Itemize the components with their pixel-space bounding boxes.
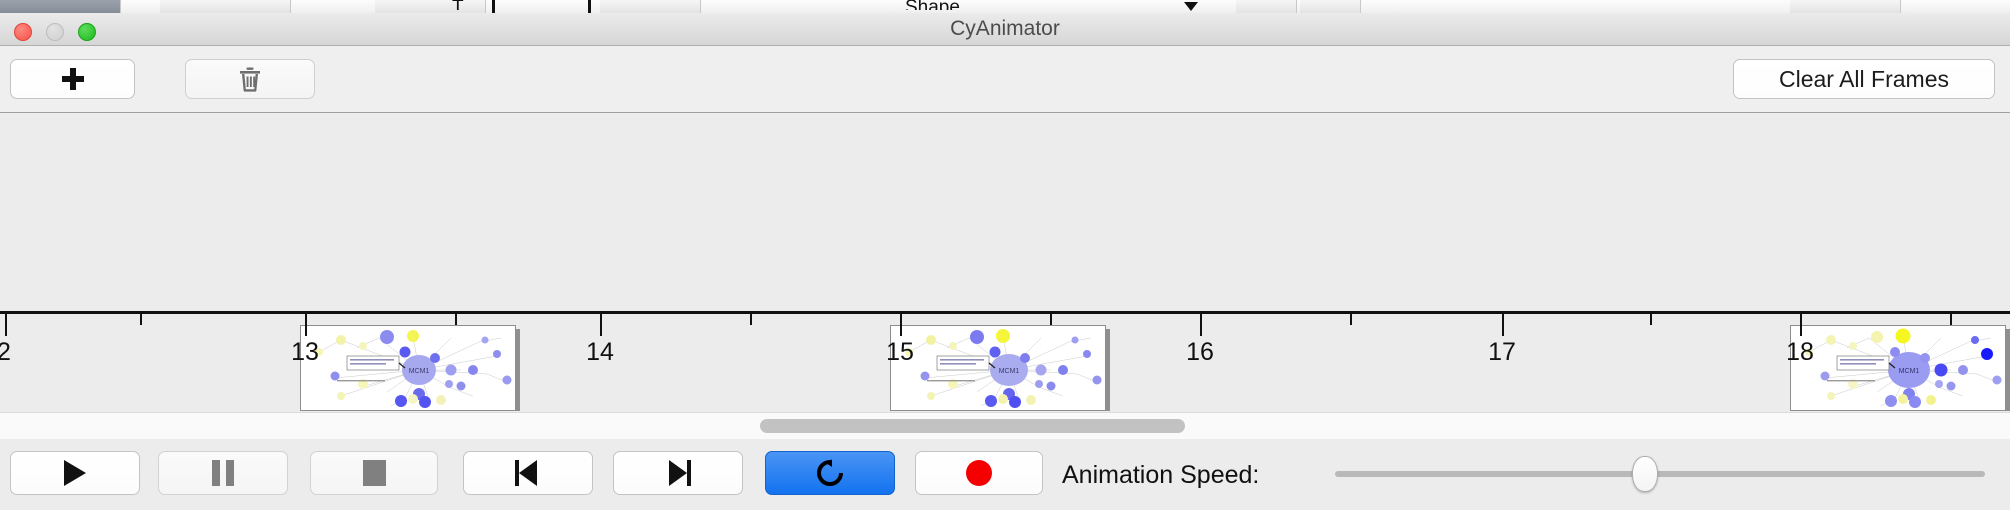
axis-tick-minor: [140, 314, 142, 325]
toolbar: Clear All Frames: [0, 46, 2010, 113]
bg-tab: [1300, 0, 1361, 13]
cyanimator-window: T Shape CyAnimator Clear All Fr: [0, 0, 2010, 510]
axis-tick-major: [1502, 314, 1504, 336]
trash-icon: [235, 63, 265, 95]
axis-tick-label: 15: [886, 338, 914, 367]
axis-tick-minor: [1050, 314, 1052, 325]
timeline-axis: [0, 311, 2010, 314]
svg-text:MCM1: MCM1: [999, 368, 1020, 375]
network-thumbnail-graphic: MCM1: [891, 326, 1105, 410]
network-thumbnail-graphic: MCM1: [301, 326, 515, 410]
axis-tick-minor: [1650, 314, 1652, 325]
axis-tick-label: 18: [1786, 338, 1814, 367]
scrollbar-thumb[interactable]: [760, 419, 1185, 433]
clear-all-frames-button[interactable]: Clear All Frames: [1733, 59, 1995, 99]
stop-button[interactable]: [310, 451, 438, 495]
stop-icon: [363, 460, 386, 486]
axis-tick-minor: [455, 314, 457, 325]
slider-thumb[interactable]: [1632, 456, 1658, 492]
delete-frame-button[interactable]: [185, 59, 315, 99]
record-icon: [966, 460, 992, 486]
skip-backward-button[interactable]: [463, 451, 593, 495]
axis-tick-major: [305, 314, 307, 336]
timeline-panel[interactable]: MCM1: [0, 113, 2010, 411]
svg-text:MCM1: MCM1: [1899, 368, 1920, 375]
keyframe-thumbnail[interactable]: MCM1: [890, 325, 1106, 411]
playback-toolbar: Animation Speed:: [0, 439, 2010, 510]
bg-glyph: T: [452, 0, 464, 10]
axis-tick-label: 13: [291, 338, 319, 367]
keyframe-thumbnail[interactable]: MCM1: [300, 325, 516, 411]
pause-icon: [212, 460, 234, 486]
plus-icon: [61, 67, 85, 91]
pause-button[interactable]: [158, 451, 288, 495]
window-title: CyAnimator: [0, 13, 2010, 45]
axis-tick-label: 16: [1186, 338, 1214, 367]
skip-forward-button[interactable]: [613, 451, 743, 495]
loop-button[interactable]: [765, 451, 895, 495]
bg-window-label: Shape: [905, 0, 960, 10]
bg-tab-selected: [0, 0, 121, 13]
skip-forward-icon: [665, 460, 691, 486]
skip-backward-icon: [515, 460, 541, 486]
axis-tick-major: [5, 314, 7, 336]
animation-speed-label: Animation Speed:: [1062, 461, 1259, 490]
record-button[interactable]: [915, 451, 1043, 495]
add-frame-button[interactable]: [10, 59, 135, 99]
bg-divider: [588, 0, 591, 13]
axis-tick-minor: [750, 314, 752, 325]
animation-speed-slider[interactable]: [1335, 464, 1985, 484]
bg-tab: [160, 0, 291, 13]
axis-tick-major: [1200, 314, 1202, 336]
background-window-sliver: T Shape: [0, 0, 2010, 14]
bg-caret-icon: [1184, 2, 1198, 11]
play-icon: [64, 460, 86, 486]
axis-tick-major: [900, 314, 902, 336]
bg-divider: [492, 0, 495, 13]
timeline-scrollbar[interactable]: [0, 412, 2010, 440]
clear-all-frames-label: Clear All Frames: [1779, 66, 1949, 93]
axis-tick-minor: [1950, 314, 1952, 325]
bg-tab: [1236, 0, 1297, 13]
axis-tick-label: 14: [586, 338, 614, 367]
axis-tick-major: [600, 314, 602, 336]
axis-tick-minor: [1350, 314, 1352, 325]
bg-tab: [1790, 0, 1901, 13]
bg-tab: [375, 0, 486, 13]
keyframe-thumbnail[interactable]: MCM1: [1790, 325, 2006, 411]
axis-tick-label: 17: [1488, 338, 1516, 367]
loop-icon: [815, 458, 845, 488]
slider-track: [1335, 471, 1985, 477]
play-button[interactable]: [10, 451, 140, 495]
title-bar: CyAnimator: [0, 13, 2010, 46]
network-thumbnail-graphic: MCM1: [1791, 326, 2005, 410]
svg-text:MCM1: MCM1: [409, 368, 430, 375]
axis-tick-major: [1800, 314, 1802, 336]
axis-tick-label: 2: [0, 338, 11, 367]
bg-tab: [600, 0, 701, 13]
